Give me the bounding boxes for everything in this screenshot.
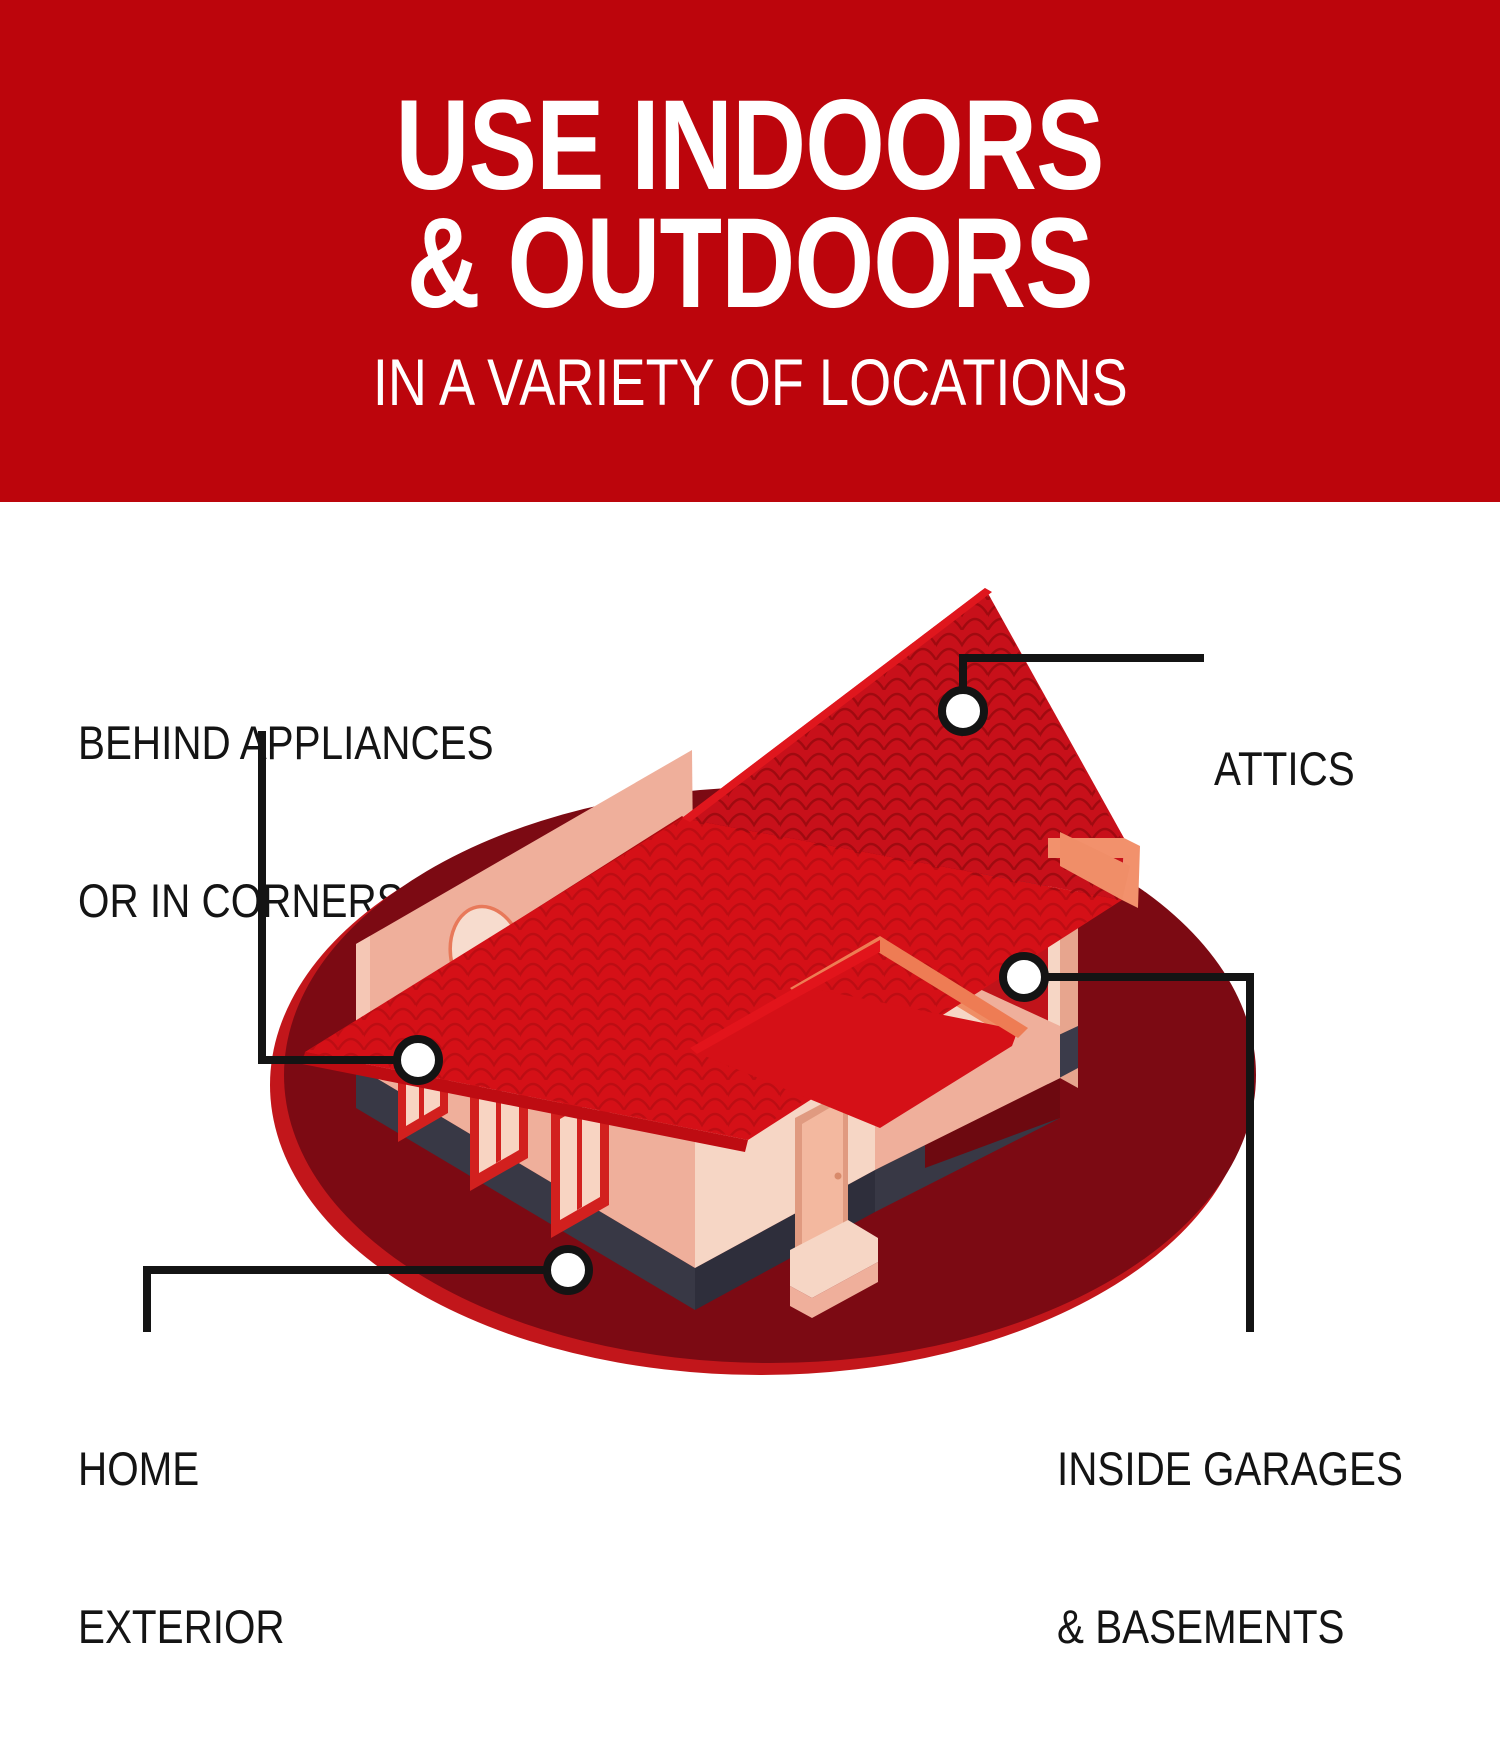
header-banner: USE INDOORS & OUTDOORS IN A VARIETY OF L… — [0, 0, 1500, 502]
door-knob — [835, 1173, 842, 1180]
hotspot-dot-inside-garages[interactable] — [1003, 956, 1045, 998]
isometric-house-svg — [0, 502, 1500, 1500]
title-line-2: & OUTDOORS — [407, 205, 1093, 323]
hotspot-dot-attics[interactable] — [942, 690, 984, 732]
hotspot-dot-behind-appliances[interactable] — [397, 1039, 439, 1081]
subtitle: IN A VARIETY OF LOCATIONS — [373, 349, 1128, 415]
hotspot-dot-home-exterior[interactable] — [547, 1249, 589, 1291]
title-line-1: USE INDOORS — [396, 87, 1104, 205]
house-illustration-scene — [0, 502, 1500, 1500]
callout-line-2: EXTERIOR — [78, 1601, 285, 1654]
infographic-page: USE INDOORS & OUTDOORS IN A VARIETY OF L… — [0, 0, 1500, 1500]
callout-line-2: & BASEMENTS — [1057, 1601, 1403, 1654]
